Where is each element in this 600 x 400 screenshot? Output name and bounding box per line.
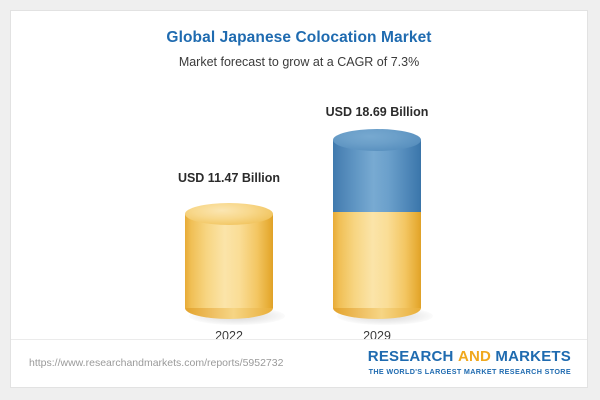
chart-card: Global Japanese Colocation Market Market… [10, 10, 588, 388]
bar-value-label-2029: USD 18.69 Billion [267, 105, 487, 119]
report-url-link[interactable]: https://www.researchandmarkets.com/repor… [29, 357, 283, 369]
logo-word-markets: MARKETS [495, 348, 571, 365]
logo-wordmark: RESEARCH AND MARKETS [368, 348, 571, 365]
cylinder-body-2022 [185, 214, 273, 308]
cylinder-2022[interactable] [185, 203, 273, 319]
footer: https://www.researchandmarkets.com/repor… [11, 339, 588, 387]
plot-area: USD 11.47 Billion 2022 USD 18.69 Billion… [11, 11, 588, 341]
logo-word-and-text: AND [458, 348, 491, 365]
cylinder-top-ellipse-2029 [333, 129, 421, 151]
research-and-markets-logo[interactable]: RESEARCH AND MARKETS THE WORLD'S LARGEST… [368, 348, 571, 376]
cylinder-top-ellipse-2022 [185, 203, 273, 225]
cylinder-2029[interactable] [333, 129, 421, 319]
bar-value-label-2022: USD 11.47 Billion [119, 171, 339, 185]
cylinder-segment-base-2029 [333, 211, 421, 308]
logo-word-research: RESEARCH [368, 348, 454, 365]
logo-tagline: THE WORLD'S LARGEST MARKET RESEARCH STOR… [368, 367, 571, 376]
